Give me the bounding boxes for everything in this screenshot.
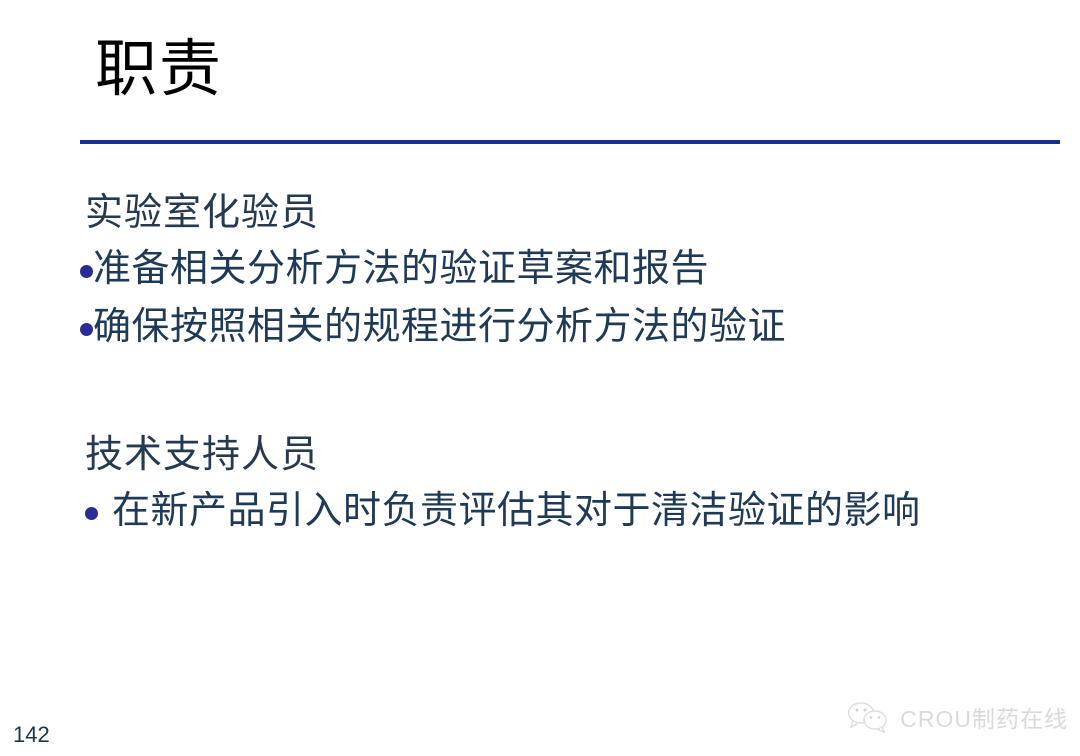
list-item: 在新产品引入时负责评估其对于清洁验证的影响	[80, 482, 1040, 540]
list-item: 确保按照相关的规程进行分析方法的验证	[80, 298, 1040, 356]
section-heading-2: 技术支持人员	[85, 428, 1040, 482]
bullet-text: 准备相关分析方法的验证草案和报告	[93, 240, 709, 298]
watermark: CROU制药在线	[846, 700, 1068, 734]
section-heading-1: 实验室化验员	[85, 186, 1040, 240]
page-title: 职责	[95, 36, 223, 104]
watermark-text: CROU制药在线	[900, 700, 1068, 734]
wechat-icon	[846, 700, 892, 734]
bullet-dot-icon	[80, 265, 93, 278]
bullet-list-1: 准备相关分析方法的验证草案和报告 确保按照相关的规程进行分析方法的验证	[80, 240, 1040, 356]
content-section-2: 技术支持人员 在新产品引入时负责评估其对于清洁验证的影响	[80, 428, 1040, 540]
section-spacer	[80, 356, 1040, 428]
bullet-dot-icon	[80, 323, 93, 336]
list-item: 准备相关分析方法的验证草案和报告	[80, 240, 1040, 298]
slide-body: 实验室化验员 准备相关分析方法的验证草案和报告 确保按照相关的规程进行分析方法的…	[80, 186, 1040, 540]
slide-canvas: 职责 实验室化验员 准备相关分析方法的验证草案和报告 确保按照相关的规程进行分析…	[0, 0, 1080, 756]
bullet-list-2: 在新产品引入时负责评估其对于清洁验证的影响	[80, 482, 1040, 540]
bullet-dot-icon	[85, 507, 98, 520]
bullet-text: 在新产品引入时负责评估其对于清洁验证的影响	[112, 482, 921, 540]
bullet-text: 确保按照相关的规程进行分析方法的验证	[93, 298, 786, 356]
page-number: 142	[13, 722, 50, 748]
content-section-1: 实验室化验员 准备相关分析方法的验证草案和报告 确保按照相关的规程进行分析方法的…	[80, 186, 1040, 356]
title-divider	[80, 140, 1060, 144]
